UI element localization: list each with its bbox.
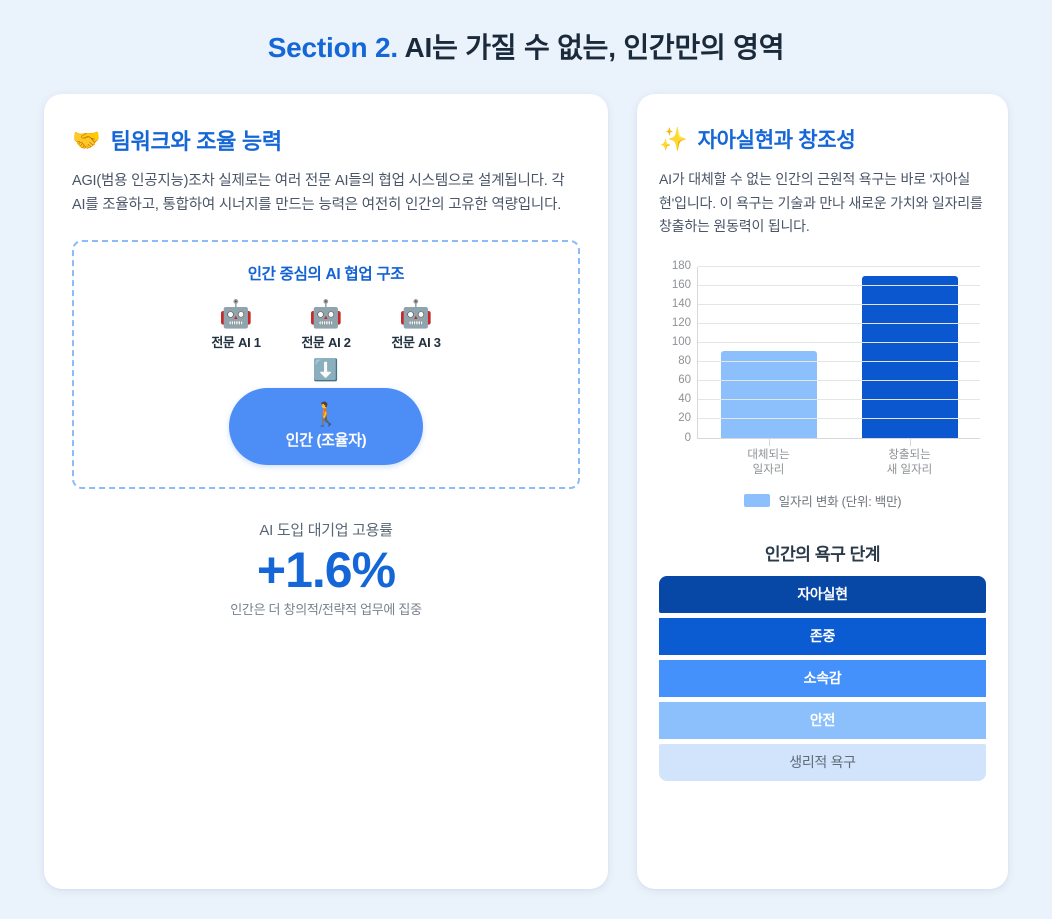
needs-hierarchy: 인간의 욕구 단계 자아실현존중소속감안전생리적 욕구	[659, 540, 986, 781]
human-coordinator-label: 인간 (조율자)	[229, 429, 423, 450]
agent-row: 🤖 전문 AI 1 🤖 전문 AI 2 🤖 전문 AI 3	[90, 300, 562, 351]
employment-stat: AI 도입 대기업 고용률 +1.6% 인간은 더 창의적/전략적 업무에 집중	[72, 519, 580, 618]
chart-gridline: 80	[698, 361, 980, 362]
sparkles-emoji: ✨	[659, 128, 688, 151]
chart-y-tick: 120	[672, 317, 691, 329]
needs-level-row: 자아실현	[659, 576, 986, 613]
chart-gridline: 40	[698, 399, 980, 400]
chart-y-tick: 0	[685, 432, 691, 444]
handshake-emoji: 🤝	[72, 129, 101, 152]
chart-gridline: 160	[698, 285, 980, 286]
teamwork-card-title: 팀워크와 조율 능력	[111, 124, 282, 156]
chart-gridline: 120	[698, 323, 980, 324]
chart-y-tick: 160	[672, 279, 691, 291]
agent-item: 🤖 전문 AI 1	[199, 300, 273, 351]
chart-plot-area: 대체되는일자리창출되는새 일자리 02040608010012014016018…	[697, 267, 980, 439]
agent-label: 전문 AI 1	[199, 332, 273, 351]
chart-gridline: 20	[698, 418, 980, 419]
chart-bar-column: 창출되는새 일자리	[839, 267, 980, 439]
needs-level-row: 안전	[659, 702, 986, 739]
needs-level-row: 존중	[659, 618, 986, 655]
stat-value: +1.6%	[72, 542, 580, 598]
chart-y-tick: 80	[678, 355, 691, 367]
chart-gridline: 60	[698, 380, 980, 381]
self-actualization-card-header: ✨ 자아실현과 창조성	[659, 124, 986, 154]
teamwork-card-description: AGI(범용 인공지능)조차 실제로는 여러 전문 AI들의 협업 시스템으로 …	[72, 170, 580, 218]
needs-level-row: 소속감	[659, 660, 986, 697]
chart-y-tick: 140	[672, 298, 691, 310]
robot-emoji: 🤖	[379, 300, 453, 330]
page-root: Section 2. AI는 가질 수 없는, 인간만의 영역 🤝 팀워크와 조…	[0, 0, 1052, 919]
needs-rows: 자아실현존중소속감안전생리적 욕구	[659, 576, 986, 781]
page-title-accent: Section 2.	[268, 32, 398, 63]
chart-y-tick: 20	[678, 412, 691, 424]
chart-y-tick: 60	[678, 374, 691, 386]
page-title: Section 2. AI는 가질 수 없는, 인간만의 영역	[0, 0, 1052, 65]
chart-legend: 일자리 변화 (단위: 백만)	[659, 491, 986, 510]
self-actualization-card: ✨ 자아실현과 창조성 AI가 대체할 수 없는 인간의 근원적 욕구는 바로 …	[637, 94, 1008, 889]
chart-gridline: 140	[698, 304, 980, 305]
jobs-bar-chart: 대체되는일자리창출되는새 일자리 02040608010012014016018…	[659, 259, 986, 510]
chart-x-tick-line: 대체되는	[747, 449, 789, 461]
stat-label: AI 도입 대기업 고용률	[72, 519, 580, 540]
teamwork-card: 🤝 팀워크와 조율 능력 AGI(범용 인공지능)조차 실제로는 여러 전문 A…	[44, 94, 608, 889]
chart-y-tick: 180	[672, 260, 691, 272]
needs-level-row: 생리적 욕구	[659, 744, 986, 781]
robot-emoji: 🤖	[289, 300, 363, 330]
chart-x-tick: 대체되는일자리	[747, 448, 789, 479]
robot-emoji: 🤖	[199, 300, 273, 330]
chart-x-tick-line: 새 일자리	[887, 464, 933, 476]
agent-label: 전문 AI 2	[289, 332, 363, 351]
collaboration-diagram: 인간 중심의 AI 협업 구조 🤖 전문 AI 1 🤖 전문 AI 2 🤖 전문…	[72, 240, 580, 489]
legend-swatch	[744, 494, 770, 507]
self-actualization-card-description: AI가 대체할 수 없는 인간의 근원적 욕구는 바로 '자아실현'입니다. 이…	[659, 168, 986, 239]
chart-bar	[862, 276, 958, 438]
cards-container: 🤝 팀워크와 조율 능력 AGI(범용 인공지능)조차 실제로는 여러 전문 A…	[0, 65, 1052, 889]
chart-y-tick: 40	[678, 393, 691, 405]
chart-x-tick: 창출되는새 일자리	[887, 448, 933, 479]
chart-x-tickmark	[910, 439, 911, 446]
chart-y-tick: 100	[672, 336, 691, 348]
chart-gridline: 100	[698, 342, 980, 343]
chart-bar-column: 대체되는일자리	[698, 267, 839, 439]
chart-x-tick-line: 창출되는	[888, 449, 930, 461]
diagram-title: 인간 중심의 AI 협업 구조	[90, 262, 562, 284]
agent-item: 🤖 전문 AI 2	[289, 300, 363, 351]
chart-bar	[721, 351, 817, 439]
chart-gridline: 180	[698, 266, 980, 267]
chart-x-tickmark	[769, 439, 770, 446]
chart-x-tick-line: 일자리	[753, 464, 785, 476]
teamwork-card-header: 🤝 팀워크와 조율 능력	[72, 124, 580, 156]
human-coordinator-node: 🚶 인간 (조율자)	[229, 388, 423, 465]
stat-subtext: 인간은 더 창의적/전략적 업무에 집중	[72, 599, 580, 618]
needs-hierarchy-title: 인간의 욕구 단계	[659, 540, 986, 565]
chart-canvas: 대체되는일자리창출되는새 일자리 02040608010012014016018…	[659, 259, 986, 487]
chart-bars: 대체되는일자리창출되는새 일자리	[698, 267, 980, 439]
page-title-rest: AI는 가질 수 없는, 인간만의 영역	[405, 32, 785, 63]
agent-item: 🤖 전문 AI 3	[379, 300, 453, 351]
agent-label: 전문 AI 3	[379, 332, 453, 351]
arrow-row: ⬇️	[90, 360, 562, 381]
self-actualization-card-title: 자아실현과 창조성	[698, 124, 856, 154]
chart-gridline: 0	[698, 438, 980, 439]
walking-person-emoji: 🚶	[229, 402, 423, 427]
down-arrow-icon: ⬇️	[313, 360, 339, 381]
legend-label: 일자리 변화 (단위: 백만)	[779, 491, 902, 510]
